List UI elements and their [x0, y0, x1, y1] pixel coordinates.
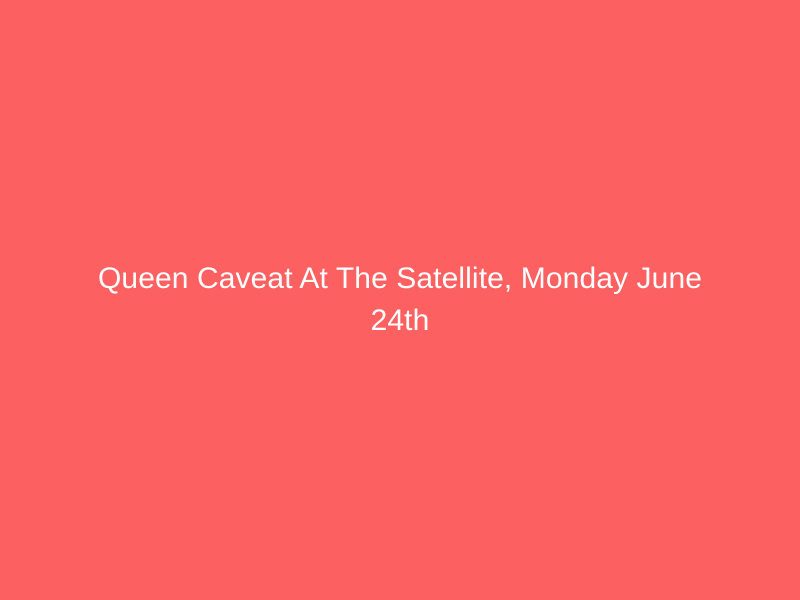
- event-banner: Queen Caveat At The Satellite, Monday Ju…: [0, 0, 800, 600]
- banner-title: Queen Caveat At The Satellite, Monday Ju…: [70, 258, 730, 342]
- banner-text-container: Queen Caveat At The Satellite, Monday Ju…: [70, 258, 730, 342]
